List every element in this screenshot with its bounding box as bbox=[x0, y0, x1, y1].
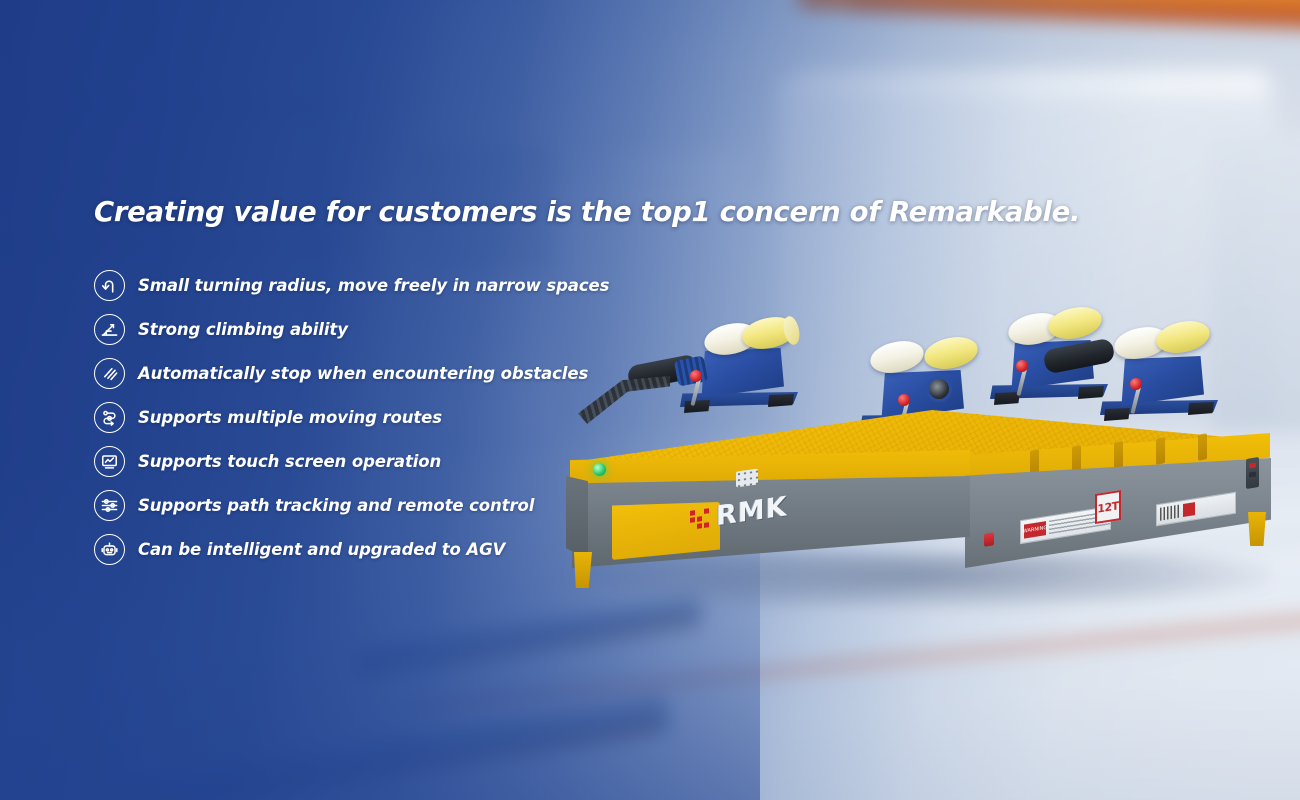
stand-foot-right bbox=[1188, 402, 1214, 415]
cart-wheel-housing-right bbox=[1248, 512, 1266, 546]
feature-label: Supports touch screen operation bbox=[138, 452, 441, 471]
feature-item-agv-upgrade: Can be intelligent and upgraded to AGV bbox=[94, 527, 734, 571]
stand-foot-right bbox=[1078, 386, 1104, 399]
obstacle-sensor-icon bbox=[94, 358, 125, 389]
feature-item-turning-radius: Small turning radius, move freely in nar… bbox=[94, 263, 734, 307]
spec-red-mark bbox=[1183, 502, 1195, 517]
feature-label: Automatically stop when encountering obs… bbox=[138, 364, 588, 383]
roller-wheel-right bbox=[1045, 303, 1104, 344]
feature-label: Small turning radius, move freely in nar… bbox=[138, 276, 609, 295]
feature-item-path-tracking: Supports path tracking and remote contro… bbox=[94, 483, 734, 527]
deck-rib bbox=[1198, 433, 1207, 461]
route-path-icon bbox=[94, 402, 125, 433]
feature-label: Strong climbing ability bbox=[138, 320, 348, 339]
feature-item-obstacle-stop: Automatically stop when encountering obs… bbox=[94, 351, 734, 395]
sliders-control-icon bbox=[94, 490, 125, 521]
touch-screen-icon bbox=[94, 446, 125, 477]
deck-rib bbox=[1156, 437, 1165, 465]
robot-agv-icon bbox=[94, 534, 125, 565]
u-turn-arrow-icon bbox=[94, 270, 125, 301]
feature-item-touch-screen: Supports touch screen operation bbox=[94, 439, 734, 483]
roller-wheel-left bbox=[867, 337, 926, 378]
feature-item-multiple-routes: Supports multiple moving routes bbox=[94, 395, 734, 439]
slope-climb-icon bbox=[94, 314, 125, 345]
feature-item-climbing: Strong climbing ability bbox=[94, 307, 734, 351]
stand-foot-right bbox=[768, 394, 794, 407]
lever-knob bbox=[1130, 378, 1142, 390]
banner-content: Creating value for customers is the top1… bbox=[94, 196, 734, 571]
cart-capacity-plate: 12T bbox=[1095, 490, 1121, 524]
warning-label: WARNING bbox=[1024, 521, 1046, 538]
banner-headline: Creating value for customers is the top1… bbox=[94, 196, 734, 229]
feature-list: Small turning radius, move freely in nar… bbox=[94, 263, 734, 571]
roller-wheel-right bbox=[921, 333, 980, 374]
lever-knob bbox=[1016, 360, 1028, 372]
feature-label: Can be intelligent and upgraded to AGV bbox=[138, 540, 505, 559]
lever-knob bbox=[898, 394, 910, 406]
deck-rib bbox=[1072, 445, 1081, 473]
roller-wheel-right bbox=[1153, 317, 1212, 358]
deck-rib bbox=[1114, 441, 1123, 469]
promo-banner: RMK WARNING 12T Creating value for custo… bbox=[0, 0, 1300, 800]
stand-foot-left bbox=[1104, 408, 1130, 421]
cart-vent-grid bbox=[736, 468, 758, 487]
feature-label: Supports path tracking and remote contro… bbox=[138, 496, 534, 515]
feature-label: Supports multiple moving routes bbox=[138, 408, 442, 427]
cart-control-box bbox=[1246, 457, 1259, 489]
cart-emergency-button bbox=[984, 532, 994, 547]
roller-hub bbox=[926, 376, 952, 402]
spec-barcode bbox=[1160, 505, 1180, 521]
